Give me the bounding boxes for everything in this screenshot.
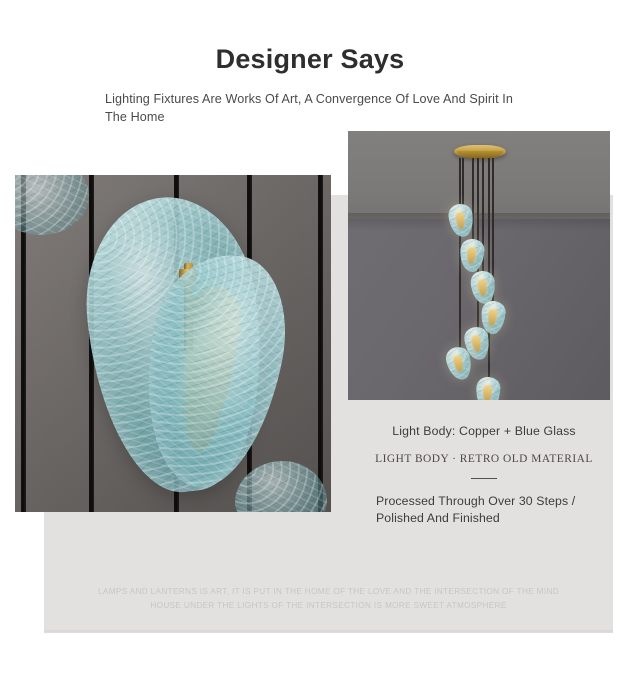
bottom-caption-line-1: LAMPS AND LANTERNS IS ART, IT IS PUT IN … bbox=[44, 585, 613, 599]
header: Designer Says Lighting Fixtures Are Work… bbox=[0, 0, 620, 140]
right-pendant-cluster-photo bbox=[348, 131, 610, 400]
glass-pendant bbox=[459, 238, 486, 273]
page-subtitle: Lighting Fixtures Are Works Of Art, A Co… bbox=[105, 90, 517, 126]
grey-backdrop-band-shadow bbox=[44, 630, 613, 634]
product-spec-block: Light Body: Copper + Blue Glass LIGHT BO… bbox=[368, 424, 600, 526]
glass-facet-texture bbox=[235, 461, 327, 512]
spec-serif-line: LIGHT BODY · RETRO OLD MATERIAL bbox=[368, 453, 600, 465]
glass-pendant bbox=[447, 203, 474, 238]
pendant-cord bbox=[462, 158, 464, 206]
spec-process-line: Processed Through Over 30 Steps / Polish… bbox=[368, 493, 600, 526]
spec-divider bbox=[471, 478, 497, 479]
spec-material-line: Light Body: Copper + Blue Glass bbox=[368, 424, 600, 438]
bottom-watermark-caption: LAMPS AND LANTERNS IS ART, IT IS PUT IN … bbox=[44, 585, 613, 613]
glass-shade-partial-bottom-right bbox=[235, 461, 327, 512]
bottom-caption-line-2: HOUSE UNDER THE LIGHTS OF THE INTERSECTI… bbox=[44, 599, 613, 613]
glass-pendant bbox=[475, 376, 501, 400]
ceiling-wall-corner-shadow bbox=[348, 213, 610, 231]
left-lamp-closeup-photo bbox=[15, 175, 331, 512]
page-title: Designer Says bbox=[0, 44, 620, 75]
